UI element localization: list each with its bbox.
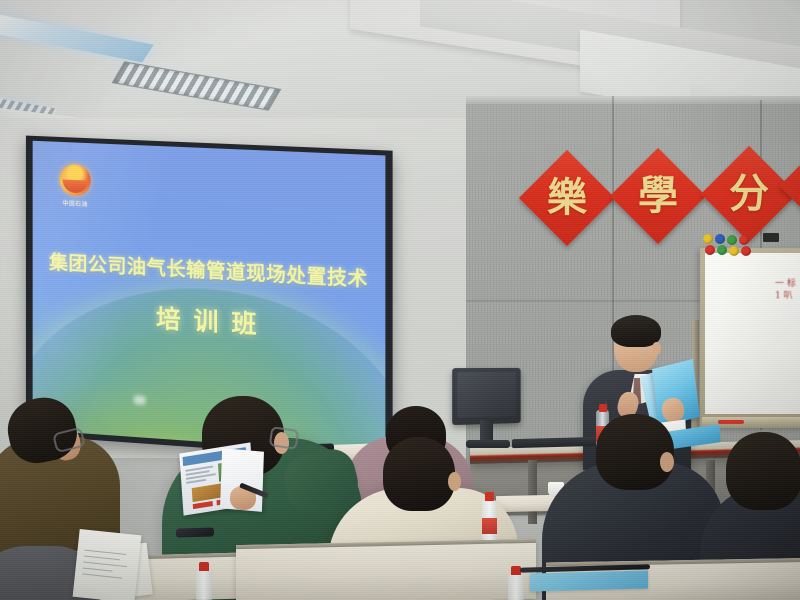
- wall-banner-char: 享: [790, 160, 800, 212]
- slide-title: 集团公司油气长输管道现场处置技术: [33, 245, 386, 293]
- whiteboard[interactable]: [700, 248, 800, 428]
- wall-banner-diamond: 分: [701, 146, 797, 242]
- magnet-red-icon[interactable]: [705, 245, 715, 255]
- wall-top-trim: [466, 96, 800, 104]
- wall-banner-diamond: 學: [610, 148, 706, 244]
- paper-text-line: [83, 562, 127, 568]
- bottle-label: [482, 518, 497, 534]
- bottle-body: [508, 574, 524, 600]
- cnpc-logo: 中国石油: [54, 163, 97, 208]
- bottle-cap: [199, 562, 209, 571]
- magnet-red-icon[interactable]: [739, 235, 749, 245]
- magnet-red-icon[interactable]: [741, 246, 751, 256]
- magnet-yellow-icon[interactable]: [729, 246, 739, 256]
- magnet-yellow-icon[interactable]: [703, 234, 713, 244]
- attendee-ear: [448, 472, 461, 491]
- eyeglasses: [269, 426, 300, 450]
- attendee-head: [726, 432, 800, 510]
- wall-banner-char: 學: [624, 162, 692, 230]
- paper-stack: [73, 529, 142, 600]
- whiteboard-clip[interactable]: [763, 233, 779, 242]
- brochure-text-line: [186, 479, 206, 484]
- cnpc-logo-caption: 中国石油: [54, 198, 97, 209]
- wall-banner-char: 樂: [533, 164, 601, 232]
- paper-text-line: [82, 573, 122, 578]
- brochure-accent: [193, 501, 213, 509]
- desk-leg: [528, 460, 537, 524]
- desk-dark-case: [176, 527, 214, 537]
- crt-monitor: [452, 368, 520, 425]
- projector-hotspot: [134, 395, 146, 405]
- whiteboard-handwriting: 一 标1 叭: [775, 278, 796, 302]
- ceiling-light-fixture: [0, 14, 154, 63]
- whiteboard-magnets[interactable]: [703, 234, 759, 260]
- paper-text-line: [84, 556, 120, 561]
- attendee-head: [383, 437, 455, 511]
- bottle-cap: [599, 404, 607, 412]
- ceiling-air-vent: [112, 61, 282, 110]
- attendee-head: [596, 414, 674, 490]
- paper-text-line: [84, 550, 126, 556]
- magnet-green-icon[interactable]: [717, 245, 727, 255]
- bottle-body: [196, 570, 212, 600]
- photo-scene: 樂 學 分 享 一 标1 叭 中国石油 集团公司油气长输: [0, 0, 800, 600]
- magnet-green-icon[interactable]: [727, 235, 737, 245]
- presenter-ear: [652, 342, 661, 355]
- attendee-ear: [660, 452, 674, 472]
- monitor-base: [466, 440, 510, 448]
- cnpc-sunburst-icon: [60, 164, 91, 197]
- paper-text-line: [83, 567, 113, 571]
- wall-banner-char: 分: [715, 160, 783, 228]
- projection-screen: 中国石油 集团公司油气长输管道现场处置技术 培训班: [33, 141, 386, 455]
- bottle-cap: [485, 492, 494, 501]
- magnet-blue-icon[interactable]: [715, 234, 725, 244]
- wall-banner-diamond: 樂: [519, 150, 615, 246]
- blue-document: [530, 570, 648, 591]
